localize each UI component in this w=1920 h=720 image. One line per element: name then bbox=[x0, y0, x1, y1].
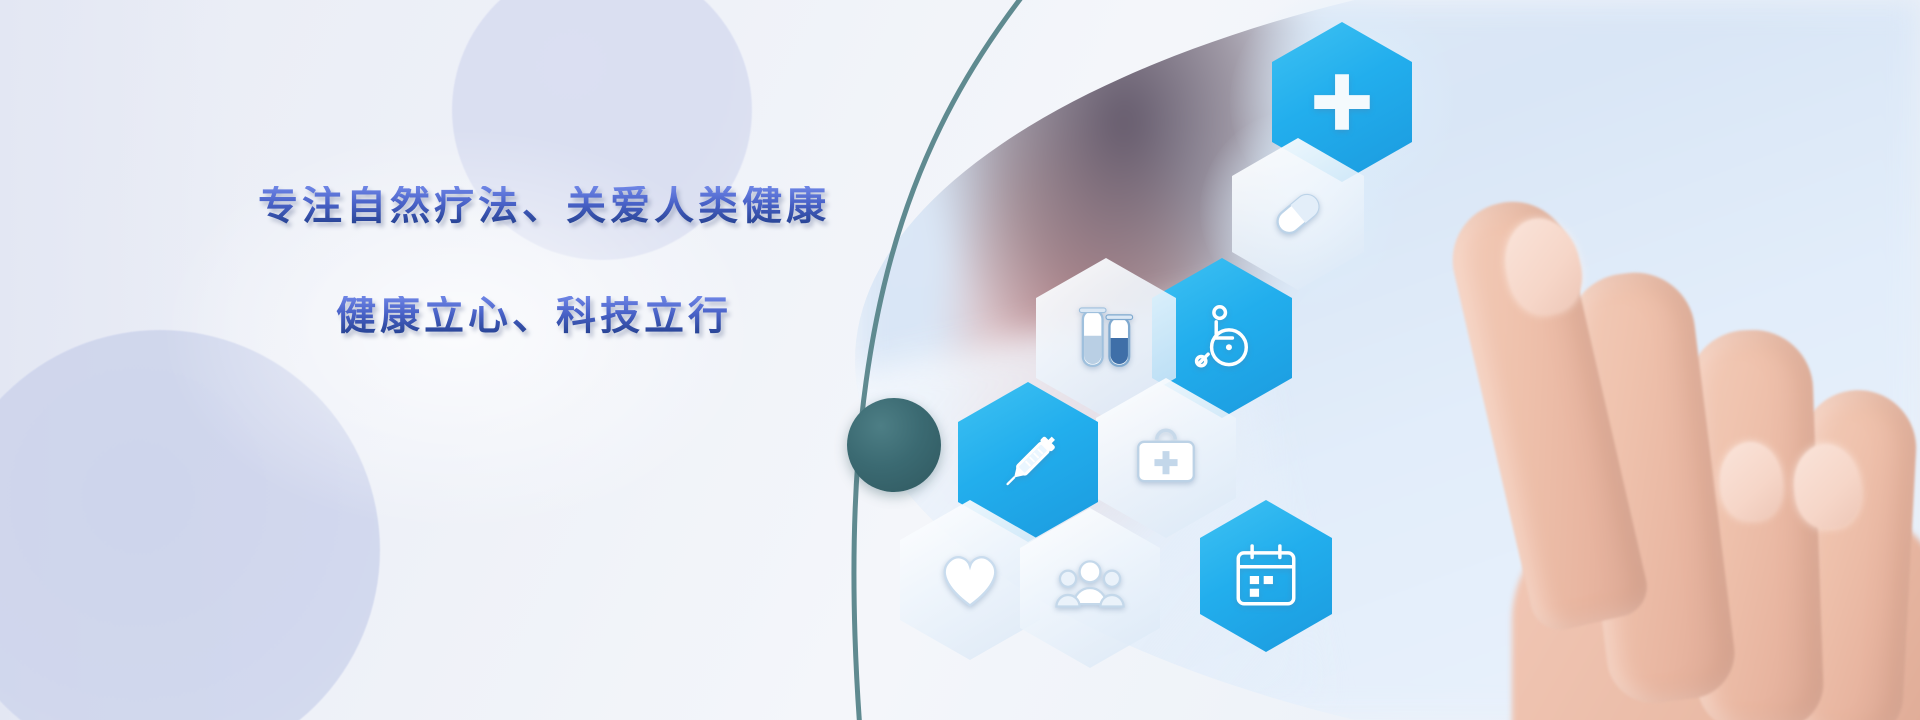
people-group-icon bbox=[1053, 551, 1127, 625]
medical-cross-icon bbox=[1305, 65, 1379, 139]
medical-hex-cluster bbox=[900, 0, 1620, 720]
heart-icon bbox=[933, 543, 1007, 617]
calendar-icon bbox=[1229, 539, 1303, 613]
headline-block: 专注自然疗法、关爱人类健康 健康立心、科技立行 bbox=[258, 186, 898, 336]
wheelchair-icon bbox=[1185, 301, 1259, 375]
headline-line-2: 健康立心、科技立行 bbox=[336, 296, 898, 336]
capsule-pill-icon bbox=[1261, 177, 1335, 251]
syringe-icon bbox=[991, 425, 1065, 499]
headline-line-1: 专注自然疗法、关爱人类健康 bbox=[258, 186, 898, 226]
medical-bag-icon bbox=[1129, 421, 1203, 495]
test-tubes-icon bbox=[1069, 301, 1143, 375]
hero-banner: 专注自然疗法、关爱人类健康 健康立心、科技立行 bbox=[0, 0, 1920, 720]
hex-tile-calendar[interactable] bbox=[1200, 500, 1332, 652]
